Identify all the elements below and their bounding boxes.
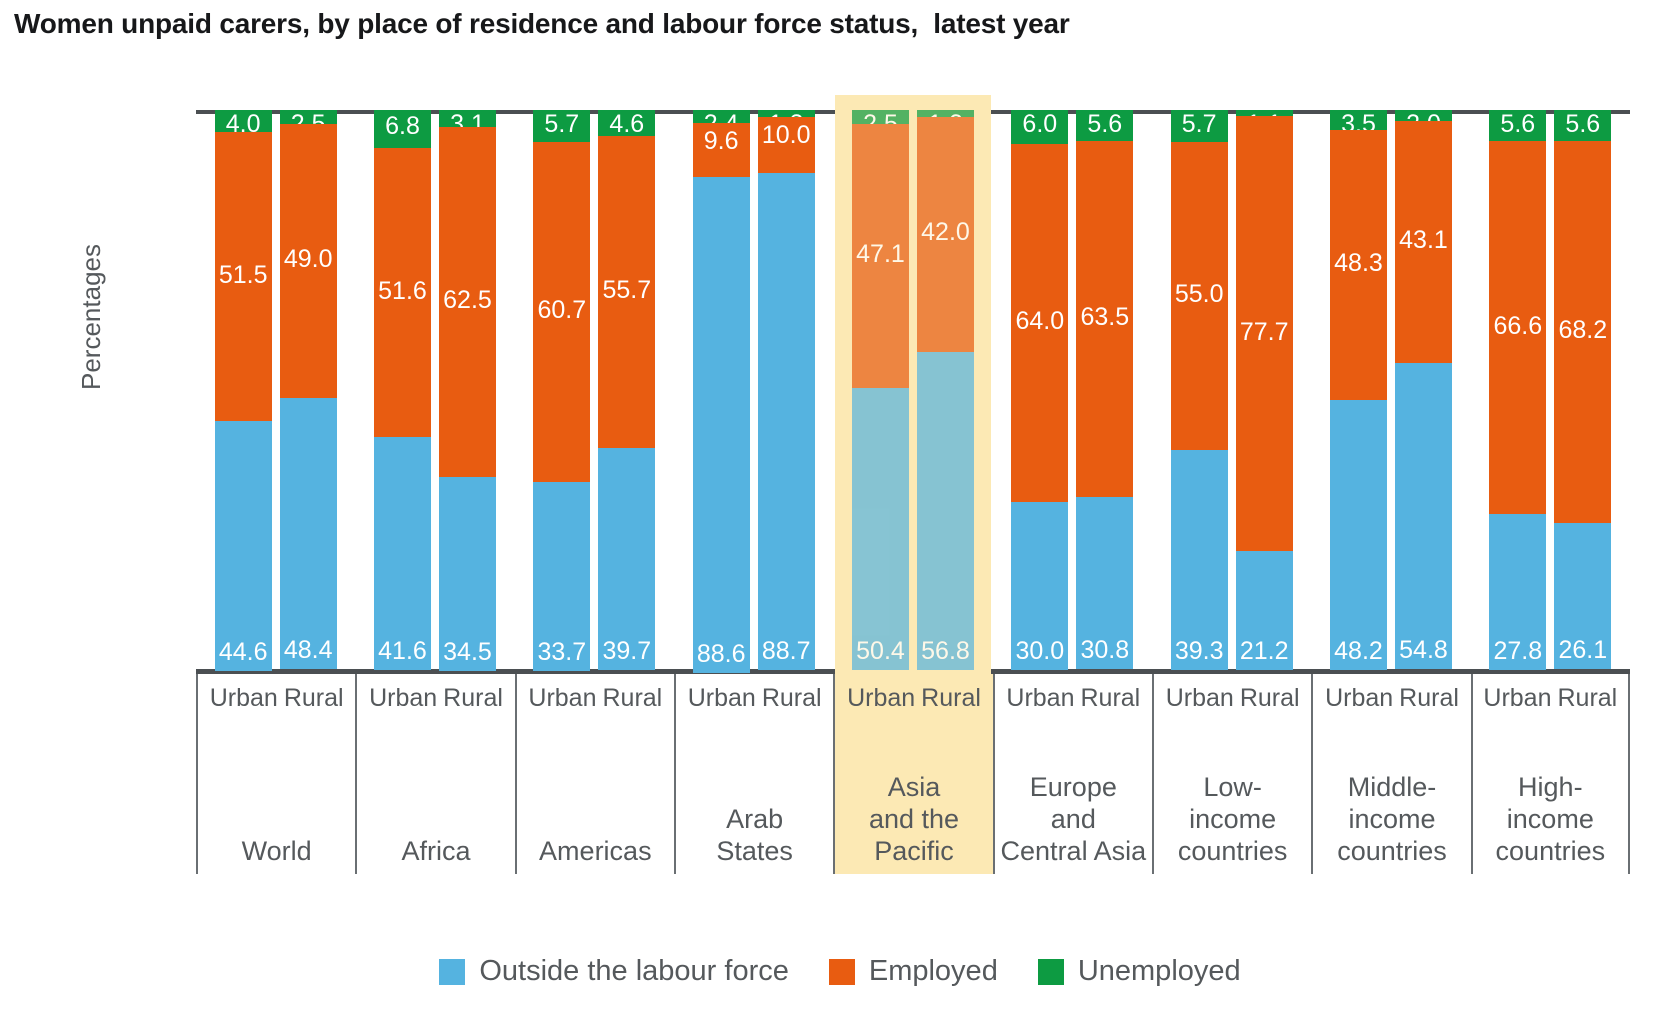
x-sub-label-urban: Urban [1325, 684, 1393, 713]
segment-value-label: 26.1 [1554, 636, 1611, 665]
segment-unemployed[interactable]: 2.0 [1395, 110, 1452, 121]
segment-value-label: 44.6 [215, 638, 272, 667]
segment-value-label: 3.1 [439, 110, 496, 127]
bar-group: 6.064.030.05.663.530.8 [993, 110, 1152, 670]
segment-outside[interactable]: 34.5 [439, 477, 496, 670]
x-group-label: Low- income countries [1154, 772, 1311, 868]
x-sub-labels: UrbanRural [1154, 684, 1311, 713]
segment-employed[interactable]: 55.7 [598, 136, 655, 448]
legend-swatch-icon [439, 959, 465, 985]
segment-unemployed[interactable]: 1.3 [758, 110, 815, 117]
segment-value-label: 4.6 [598, 110, 655, 136]
segment-unemployed[interactable]: 5.6 [1554, 110, 1611, 141]
segment-value-label: 5.7 [1171, 110, 1228, 139]
bar-group: 4.051.544.62.549.048.4 [196, 110, 355, 670]
segment-outside[interactable]: 56.8 [917, 352, 974, 670]
segment-outside[interactable]: 50.4 [852, 388, 909, 670]
segment-unemployed[interactable]: 1.2 [917, 110, 974, 117]
plot-area: 020406080100 4.051.544.62.549.048.46.851… [196, 110, 1630, 670]
x-sub-label-urban: Urban [210, 684, 278, 713]
x-sub-labels: UrbanRural [995, 684, 1152, 713]
segment-employed[interactable]: 60.7 [533, 142, 590, 482]
segment-value-label: 51.5 [215, 261, 272, 290]
segment-value-label: 55.0 [1171, 280, 1228, 309]
segment-unemployed[interactable]: 3.5 [1330, 110, 1387, 130]
segment-value-label: 66.6 [1489, 312, 1546, 341]
bar-urban[interactable]: 6.064.030.0 [1011, 110, 1068, 670]
segment-employed[interactable]: 77.7 [1236, 116, 1293, 551]
segment-employed[interactable]: 42.0 [917, 117, 974, 352]
bar-rural[interactable]: 1.177.721.2 [1236, 110, 1293, 670]
legend-item[interactable]: Employed [829, 955, 998, 988]
segment-value-label: 49.0 [280, 245, 337, 274]
segment-unemployed[interactable]: 3.1 [439, 110, 496, 127]
segment-value-label: 48.3 [1330, 249, 1387, 278]
x-sub-label-rural: Rural [443, 684, 503, 713]
legend-swatch-icon [1038, 959, 1064, 985]
x-sub-label-urban: Urban [688, 684, 756, 713]
segment-outside[interactable]: 48.2 [1330, 400, 1387, 670]
x-sub-labels: UrbanRural [198, 684, 355, 713]
bar-group: 5.666.627.85.668.226.1 [1471, 110, 1630, 670]
x-group-label: Africa [357, 836, 514, 868]
segment-value-label: 5.6 [1554, 110, 1611, 139]
x-sub-label-rural: Rural [1080, 684, 1140, 713]
segment-value-label: 51.6 [374, 277, 431, 306]
segment-value-label: 42.0 [917, 218, 974, 247]
segment-value-label: 88.7 [758, 637, 815, 666]
bar-group: 2.547.150.41.242.056.8 [833, 110, 992, 670]
segment-employed[interactable]: 55.0 [1171, 142, 1228, 450]
segment-value-label: 10.0 [758, 121, 815, 150]
bar-rural[interactable]: 5.663.530.8 [1076, 110, 1133, 670]
x-sub-label-rural: Rural [762, 684, 822, 713]
segment-value-label: 9.6 [693, 127, 750, 156]
segment-employed[interactable]: 48.3 [1330, 130, 1387, 400]
segment-value-label: 48.2 [1330, 637, 1387, 666]
x-sub-labels: UrbanRural [1313, 684, 1470, 713]
x-axis-group-cell: UrbanRuralAmericas [515, 674, 674, 874]
segment-employed[interactable]: 62.5 [439, 127, 496, 477]
segment-employed[interactable]: 49.0 [280, 124, 337, 398]
bar-urban[interactable]: 4.051.544.6 [215, 110, 272, 670]
segment-outside[interactable]: 54.8 [1395, 363, 1452, 670]
x-sub-label-urban: Urban [1006, 684, 1074, 713]
segment-outside[interactable]: 88.6 [693, 177, 750, 673]
segment-employed[interactable]: 51.5 [215, 132, 272, 420]
segment-value-label: 43.1 [1395, 226, 1452, 255]
segment-value-label: 62.5 [439, 286, 496, 315]
segment-unemployed[interactable]: 6.8 [374, 110, 431, 148]
segment-value-label: 60.7 [533, 296, 590, 325]
segment-unemployed[interactable]: 5.7 [533, 110, 590, 142]
segment-outside[interactable]: 39.3 [1171, 450, 1228, 670]
x-sub-label-rural: Rural [1399, 684, 1459, 713]
segment-outside[interactable]: 33.7 [533, 482, 590, 671]
segment-value-label: 50.4 [852, 637, 909, 666]
bar-rural[interactable]: 4.655.739.7 [598, 110, 655, 670]
segment-value-label: 63.5 [1076, 303, 1133, 332]
segment-unemployed[interactable]: 5.7 [1171, 110, 1228, 142]
segment-unemployed[interactable]: 2.5 [280, 110, 337, 124]
segment-value-label: 55.7 [598, 276, 655, 305]
bar-rural[interactable]: 2.043.154.8 [1395, 110, 1452, 670]
bar-group: 2.49.688.61.310.088.7 [674, 110, 833, 670]
bar-rural[interactable]: 2.549.048.4 [280, 110, 337, 670]
segment-employed[interactable]: 64.0 [1011, 144, 1068, 502]
x-group-label: High- income countries [1473, 772, 1628, 868]
segment-unemployed[interactable]: 2.5 [852, 110, 909, 124]
chart-legend: Outside the labour forceEmployedUnemploy… [0, 955, 1680, 988]
segment-employed[interactable]: 51.6 [374, 148, 431, 437]
legend-label: Employed [869, 955, 998, 988]
bar-rural[interactable]: 1.242.056.8 [917, 110, 974, 670]
segment-value-label: 41.6 [374, 637, 431, 666]
segment-value-label: 5.7 [533, 110, 590, 139]
x-sub-labels: UrbanRural [1473, 684, 1628, 713]
segment-value-label: 2.4 [693, 110, 750, 123]
x-sub-label-rural: Rural [602, 684, 662, 713]
legend-swatch-icon [829, 959, 855, 985]
bar-group: 5.760.733.74.655.739.7 [515, 110, 674, 670]
segment-value-label: 39.3 [1171, 637, 1228, 666]
segment-outside[interactable]: 26.1 [1554, 523, 1611, 669]
x-sub-labels: UrbanRural [517, 684, 674, 713]
segment-employed[interactable]: 66.6 [1489, 141, 1546, 514]
segment-value-label: 56.8 [917, 637, 974, 666]
segment-value-label: 34.5 [439, 638, 496, 667]
segment-value-label: 2.5 [852, 110, 909, 124]
x-axis-group-cell: UrbanRuralMiddle- income countries [1311, 674, 1470, 874]
segment-value-label: 21.2 [1236, 637, 1293, 666]
segment-value-label: 2.5 [280, 110, 337, 124]
segment-value-label: 30.0 [1011, 637, 1068, 666]
segment-value-label: 1.3 [758, 110, 815, 117]
bar-group: 3.548.348.22.043.154.8 [1311, 110, 1470, 670]
x-axis-group-cell: UrbanRuralAsia and the Pacific [833, 674, 992, 874]
segment-outside[interactable]: 41.6 [374, 437, 431, 670]
x-axis-group-cell: UrbanRuralWorld [196, 674, 355, 874]
segment-unemployed[interactable]: 6.0 [1011, 110, 1068, 144]
x-sub-label-rural: Rural [921, 684, 981, 713]
x-group-label: World [198, 836, 355, 868]
segment-value-label: 39.7 [598, 637, 655, 666]
page-title: Women unpaid carers, by place of residen… [14, 8, 1070, 40]
segment-outside[interactable]: 88.7 [758, 173, 815, 670]
bar-group: 5.755.039.31.177.721.2 [1152, 110, 1311, 670]
segment-value-label: 6.8 [374, 112, 431, 141]
bar-rural[interactable]: 5.668.226.1 [1554, 110, 1611, 670]
segment-unemployed[interactable]: 5.6 [1076, 110, 1133, 141]
segment-value-label: 4.0 [215, 110, 272, 132]
x-sub-label-urban: Urban [1483, 684, 1551, 713]
x-axis-label-band: UrbanRuralWorldUrbanRuralAfricaUrbanRura… [196, 674, 1630, 874]
bar-rural[interactable]: 1.310.088.7 [758, 110, 815, 670]
segment-value-label: 6.0 [1011, 110, 1068, 139]
x-group-label: Arab States [676, 804, 833, 868]
segment-unemployed[interactable]: 5.6 [1489, 110, 1546, 141]
x-group-label: Europe and Central Asia [995, 772, 1152, 868]
bar-urban[interactable]: 2.547.150.4 [852, 110, 909, 670]
segment-value-label: 54.8 [1395, 636, 1452, 665]
x-sub-labels: UrbanRural [835, 684, 992, 713]
segment-employed[interactable]: 9.6 [693, 123, 750, 177]
segment-employed[interactable]: 68.2 [1554, 141, 1611, 523]
x-axis-group-cell: UrbanRuralEurope and Central Asia [993, 674, 1152, 874]
bar-urban[interactable]: 3.548.348.2 [1330, 110, 1387, 670]
segment-value-label: 77.7 [1236, 318, 1293, 347]
segment-outside[interactable]: 30.0 [1011, 502, 1068, 670]
segment-employed[interactable]: 10.0 [758, 117, 815, 173]
x-sub-label-rural: Rural [284, 684, 344, 713]
x-sub-labels: UrbanRural [676, 684, 833, 713]
x-sub-labels: UrbanRural [357, 684, 514, 713]
bar-urban[interactable]: 2.49.688.6 [693, 110, 750, 670]
x-sub-label-urban: Urban [1166, 684, 1234, 713]
segment-value-label: 5.6 [1076, 110, 1133, 139]
x-sub-label-urban: Urban [528, 684, 596, 713]
bar-urban[interactable]: 5.755.039.3 [1171, 110, 1228, 670]
x-group-label: Middle- income countries [1313, 772, 1470, 868]
segment-outside[interactable]: 30.8 [1076, 497, 1133, 669]
segment-value-label: 47.1 [852, 240, 909, 269]
bar-group: 6.851.641.63.162.534.5 [355, 110, 514, 670]
bar-urban[interactable]: 5.666.627.8 [1489, 110, 1546, 670]
segment-employed[interactable]: 63.5 [1076, 141, 1133, 497]
segment-value-label: 5.6 [1489, 110, 1546, 139]
x-axis-group-cell: UrbanRuralLow- income countries [1152, 674, 1311, 874]
segment-outside[interactable]: 27.8 [1489, 514, 1546, 670]
segment-value-label: 27.8 [1489, 637, 1546, 666]
segment-outside[interactable]: 44.6 [215, 421, 272, 671]
segment-value-label: 33.7 [533, 638, 590, 667]
legend-item[interactable]: Unemployed [1038, 955, 1241, 988]
segment-value-label: 88.6 [693, 640, 750, 669]
x-axis-group-cell: UrbanRuralHigh- income countries [1471, 674, 1630, 874]
segment-unemployed[interactable]: 4.0 [215, 110, 272, 132]
x-group-label: Americas [517, 836, 674, 868]
x-sub-label-rural: Rural [1240, 684, 1300, 713]
segment-employed[interactable]: 43.1 [1395, 121, 1452, 362]
segment-unemployed[interactable]: 4.6 [598, 110, 655, 136]
legend-item[interactable]: Outside the labour force [439, 955, 789, 988]
x-axis-group-cell: UrbanRuralAfrica [355, 674, 514, 874]
segment-outside[interactable]: 48.4 [280, 398, 337, 669]
x-axis-group-cell: UrbanRuralArab States [674, 674, 833, 874]
x-sub-label-rural: Rural [1557, 684, 1617, 713]
segment-value-label: 2.0 [1395, 110, 1452, 121]
segment-value-label: 3.5 [1330, 110, 1387, 130]
x-sub-label-urban: Urban [369, 684, 437, 713]
segment-value-label: 30.8 [1076, 636, 1133, 665]
bar-urban[interactable]: 5.760.733.7 [533, 110, 590, 670]
y-axis-label: Percentages [76, 244, 107, 390]
segment-unemployed[interactable]: 2.4 [693, 110, 750, 123]
bar-urban[interactable]: 6.851.641.6 [374, 110, 431, 670]
segment-value-label: 68.2 [1554, 316, 1611, 345]
segment-outside[interactable]: 39.7 [598, 448, 655, 670]
segment-value-label: 64.0 [1011, 307, 1068, 336]
legend-label: Unemployed [1078, 955, 1241, 988]
bar-rural[interactable]: 3.162.534.5 [439, 110, 496, 670]
segment-employed[interactable]: 47.1 [852, 124, 909, 388]
segment-outside[interactable]: 21.2 [1236, 551, 1293, 670]
segment-value-label: 1.2 [917, 110, 974, 117]
segment-value-label: 48.4 [280, 636, 337, 665]
x-group-label: Asia and the Pacific [835, 772, 992, 868]
x-sub-label-urban: Urban [847, 684, 915, 713]
legend-label: Outside the labour force [479, 955, 789, 988]
